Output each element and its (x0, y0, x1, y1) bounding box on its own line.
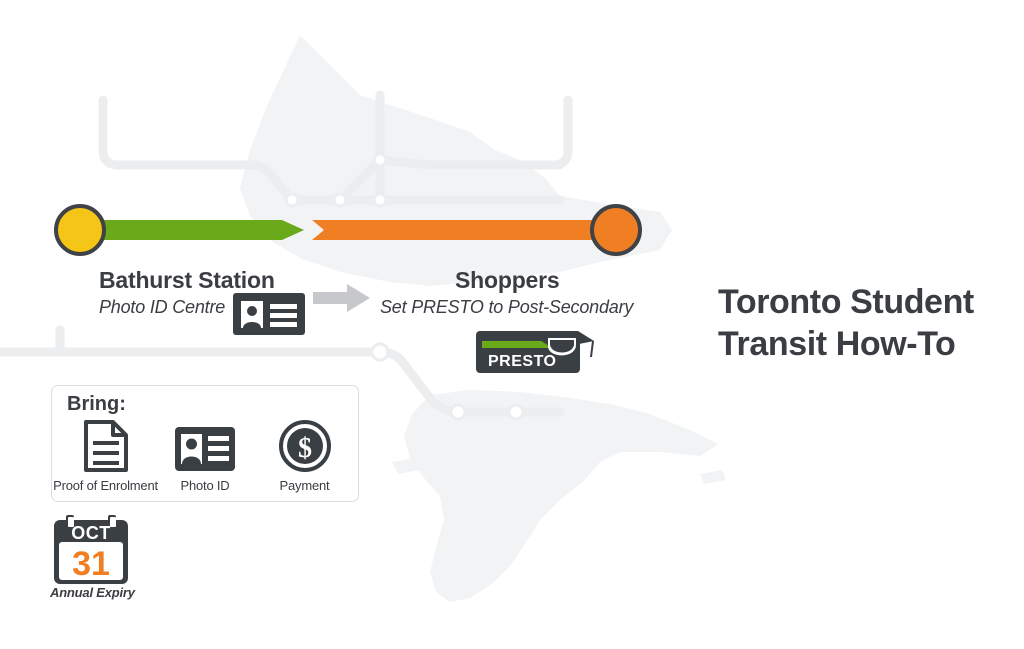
id-card-icon (174, 420, 236, 472)
timeline-bars (50, 198, 650, 274)
presto-card-icon: PRESTO (476, 329, 596, 377)
dollar-coin-icon: $ (279, 420, 331, 472)
page-title-line-2: Transit How-To (718, 323, 1008, 365)
page-title-line-1: Toronto Student (718, 281, 1008, 323)
orange-segment (312, 220, 616, 240)
green-segment (76, 220, 304, 240)
calendar-day: 31 (72, 545, 110, 583)
right-arrow-icon (313, 283, 371, 313)
shoppers-title: Shoppers (455, 267, 559, 294)
bathurst-station-subtitle: Photo ID Centre (99, 297, 225, 318)
page-title: Toronto Student Transit How-To (718, 281, 1008, 365)
bring-item-label: Proof of Enrolment (53, 478, 158, 493)
bring-item-payment: $ Payment (255, 420, 354, 493)
bring-item-label: Payment (280, 478, 330, 493)
svg-text:$: $ (298, 433, 312, 464)
infographic-canvas: Bathurst Station Photo ID Centre Shopper… (0, 0, 1024, 649)
bathurst-station-title: Bathurst Station (99, 267, 275, 294)
document-icon (83, 420, 129, 472)
bring-item-label: Photo ID (181, 478, 230, 493)
journey-timeline (50, 198, 650, 274)
shoppers-subtitle: Set PRESTO to Post-Secondary (380, 297, 633, 318)
presto-card-label: PRESTO (488, 353, 557, 370)
bring-item-photo-id: Photo ID (156, 420, 255, 493)
bring-items-list: Proof of Enrolment Photo ID (56, 420, 354, 493)
node-bathurst-station[interactable] (54, 204, 106, 256)
bring-heading: Bring: (67, 393, 126, 416)
node-shoppers[interactable] (590, 204, 642, 256)
calendar-caption: Annual Expiry (50, 585, 135, 600)
calendar-month: OCT (71, 523, 111, 543)
calendar-icon: OCT 31 (52, 515, 132, 587)
id-card-icon (233, 293, 305, 335)
bring-item-proof-of-enrolment: Proof of Enrolment (56, 420, 155, 493)
